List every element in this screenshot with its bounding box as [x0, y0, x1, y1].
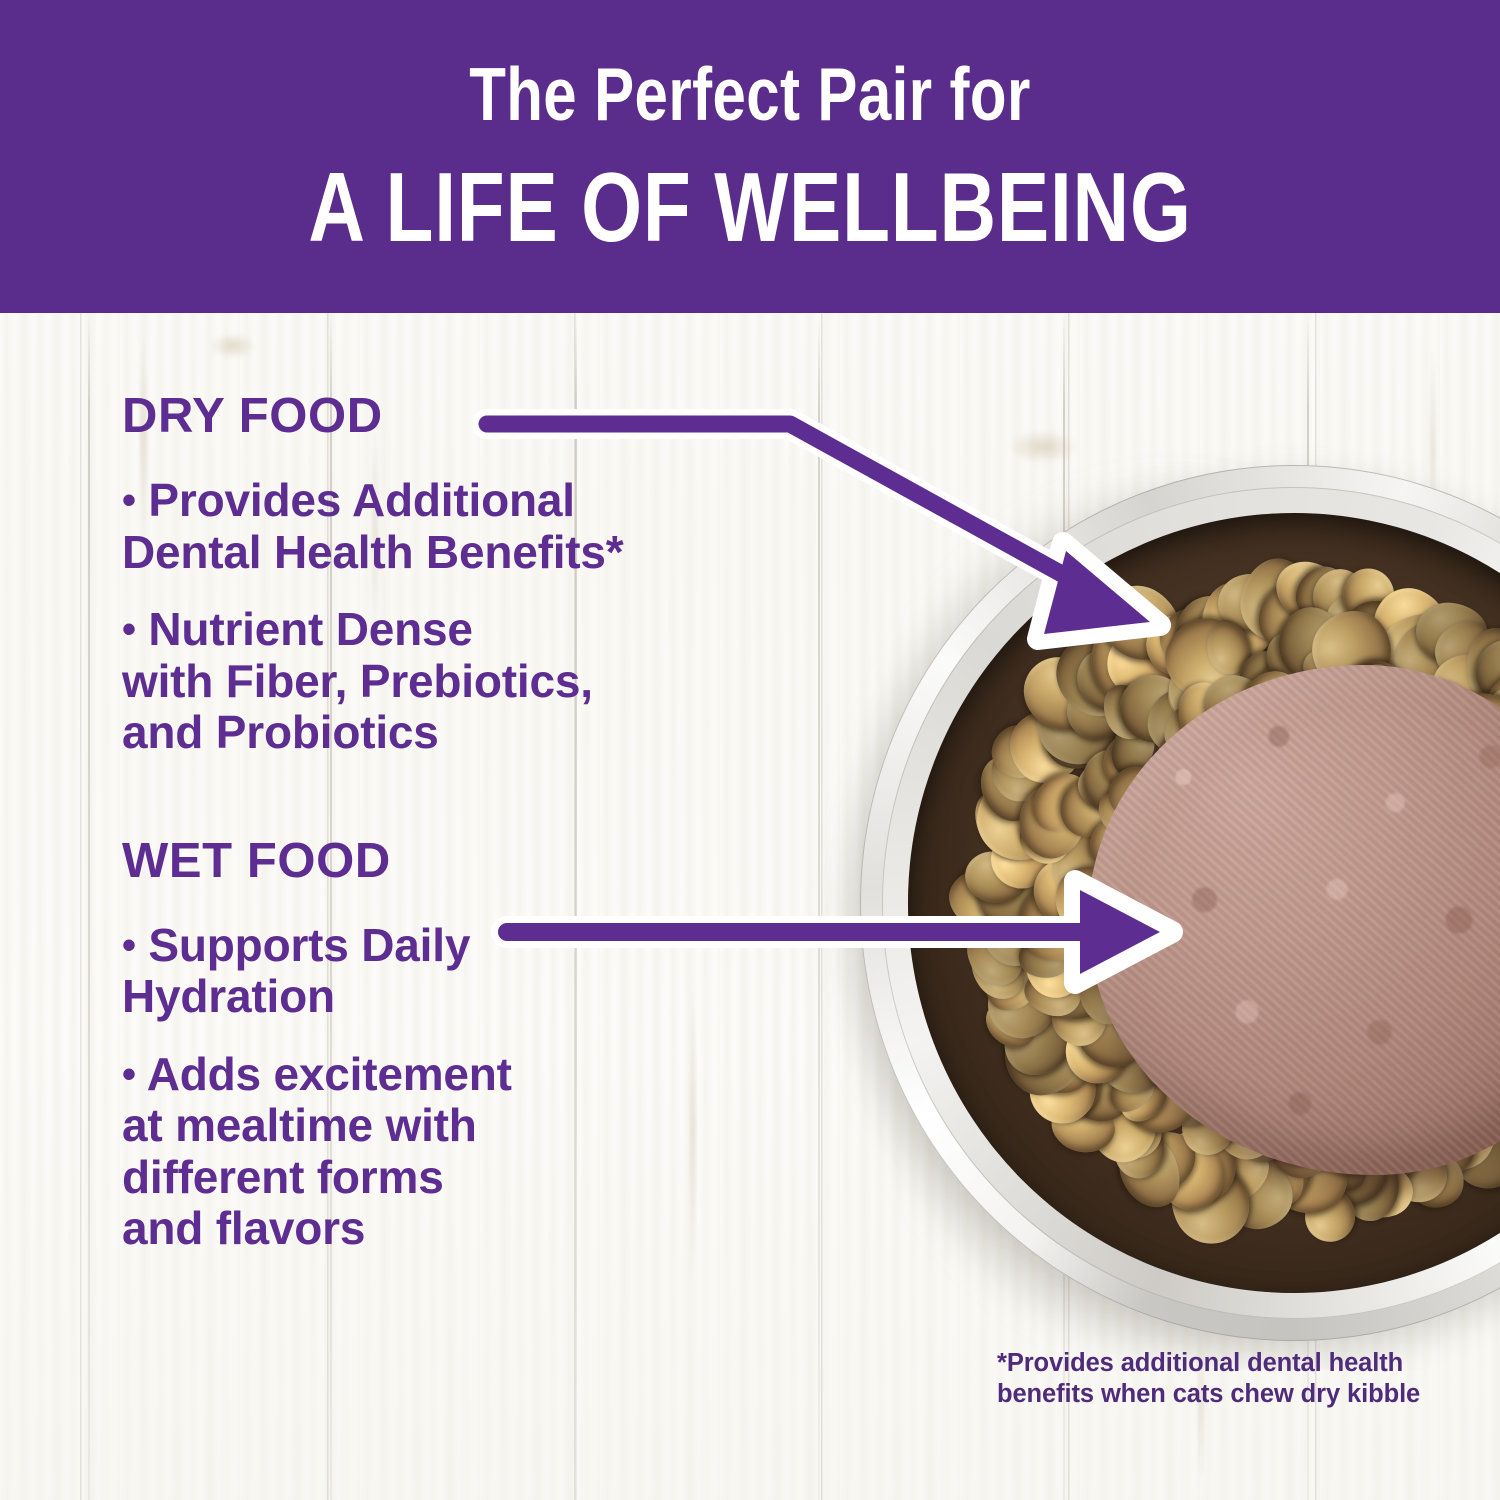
bullet-dot-icon: • — [122, 923, 136, 967]
bullet-line: Provides Additional — [148, 474, 574, 526]
bullet-dot-icon: • — [122, 608, 136, 652]
header-banner: The Perfect Pair for A LIFE OF WELLBEING — [0, 0, 1500, 313]
infographic-canvas: The Perfect Pair for A LIFE OF WELLBEING — [0, 0, 1500, 1500]
bullet-line: and Probiotics — [122, 706, 439, 758]
page-title: A LIFE OF WELLBEING — [308, 158, 1191, 256]
bullet-line: and flavors — [122, 1202, 365, 1254]
bullet-line: Adds excitement — [147, 1048, 512, 1100]
pet-food-bowl-photo — [805, 420, 1500, 1370]
bullet-line: different forms — [122, 1151, 444, 1203]
bullet-line: Nutrient Dense — [148, 603, 472, 655]
bullet-item: • Adds excitement at mealtime with diffe… — [122, 1049, 812, 1255]
bullet-dot-icon: • — [122, 1052, 136, 1096]
section-heading-dry-food: DRY FOOD — [122, 392, 812, 441]
pate-texture — [1088, 665, 1500, 1175]
section-heading-wet-food: WET FOOD — [122, 837, 812, 886]
bullet-line: Dental Health Benefits* — [122, 526, 624, 578]
footnote: *Provides additional dental health benef… — [997, 1348, 1427, 1410]
bullet-line: Hydration — [122, 970, 335, 1022]
header-line-1: The Perfect Pair for — [469, 57, 1031, 132]
bullet-item: • Provides Additional Dental Health Bene… — [122, 475, 812, 578]
bullet-item: • Supports Daily Hydration — [122, 920, 812, 1023]
bullet-line: Supports Daily — [148, 919, 470, 971]
bullet-line: with Fiber, Prebiotics, — [122, 655, 593, 707]
bullet-line: at mealtime with — [122, 1099, 477, 1151]
bullet-item: • Nutrient Dense with Fiber, Prebiotics,… — [122, 604, 812, 759]
wet-pate-mound — [1088, 665, 1500, 1175]
bullet-dot-icon: • — [122, 479, 136, 523]
footnote-line-1: *Provides additional dental health — [997, 1348, 1427, 1379]
footnote-line-2: benefits when cats chew dry kibble — [997, 1379, 1427, 1410]
plank-seam — [88, 313, 90, 1500]
wood-knot — [210, 333, 256, 359]
copy-column: DRY FOOD • Provides Additional Dental He… — [122, 392, 812, 1281]
